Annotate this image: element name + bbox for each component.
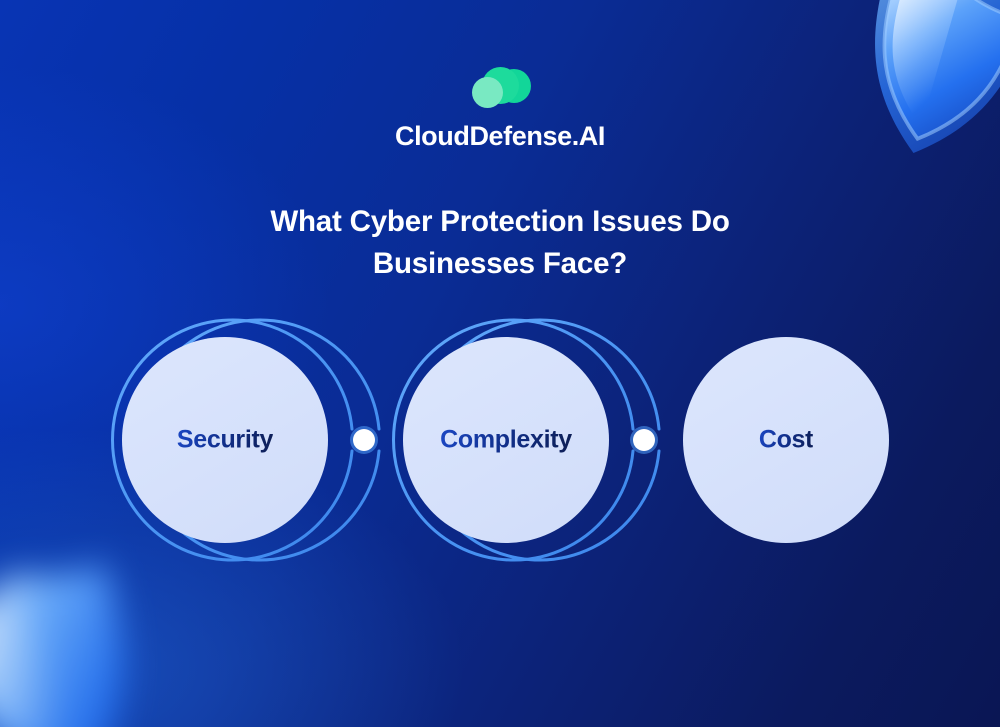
connector-node-1 <box>350 426 378 454</box>
page-title-line-1: What Cyber Protection Issues Do <box>270 205 729 238</box>
connector-node-2 <box>630 426 658 454</box>
page-title: What Cyber Protection Issues Do Business… <box>0 201 1000 286</box>
circle-label-security: Security <box>177 426 273 455</box>
circle-label-cost: Cost <box>759 426 813 455</box>
page-title-line-2: Businesses Face? <box>373 247 627 280</box>
brand-lockup: CloudDefense.AI <box>0 66 1000 152</box>
cloud-blobs-icon <box>469 66 531 110</box>
circle-label-complexity: Complexity <box>440 426 572 455</box>
logo-blob-front <box>472 77 503 108</box>
linked-circles-diagram: Security Complexity Cost <box>0 312 1000 562</box>
brand-name: CloudDefense.AI <box>395 121 605 152</box>
infographic-canvas: CloudDefense.AI What Cyber Protection Is… <box>0 0 1000 727</box>
